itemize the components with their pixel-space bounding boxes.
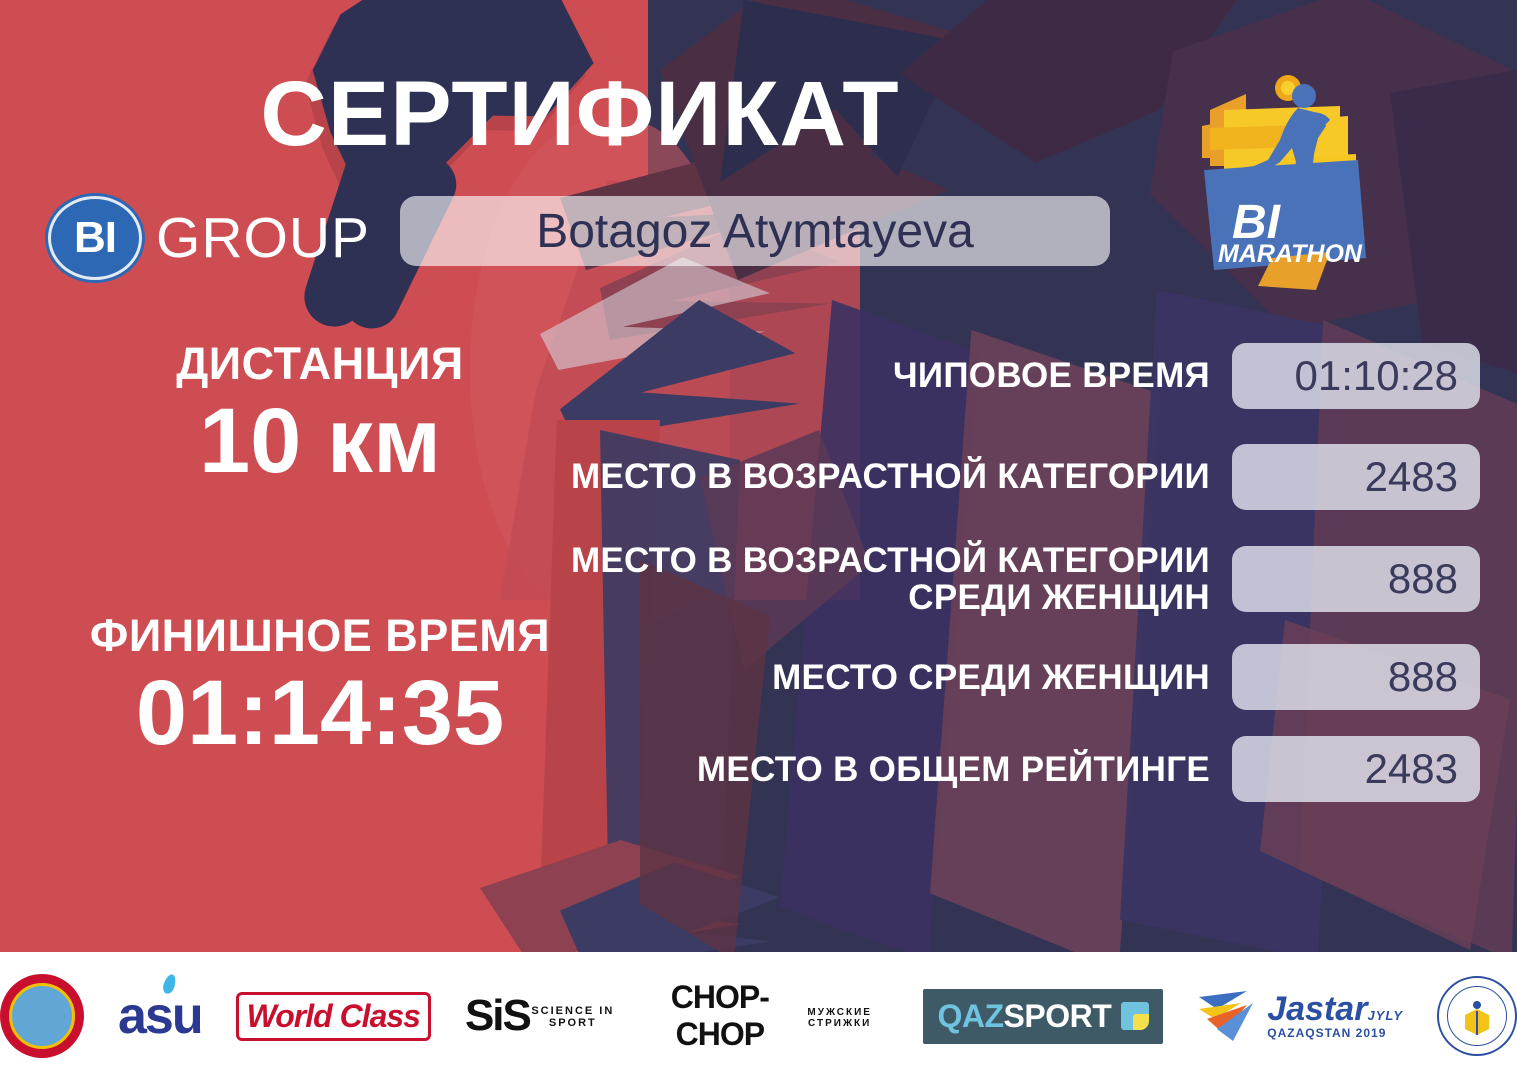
- bi-logo-icon: BI: [48, 196, 142, 280]
- overall-place-label: МЕСТО В ОБЩЕМ РЕЙТИНГЕ: [520, 751, 1232, 788]
- qazsport-mark-icon: [1121, 1002, 1149, 1030]
- overall-place-value: 2483: [1232, 736, 1480, 802]
- stat-row-age-category-women-place: МЕСТО В ВОЗРАСТНОЙ КАТЕГОРИИ СРЕДИ ЖЕНЩИ…: [520, 542, 1480, 616]
- finish-time-value: 01:14:35: [40, 665, 600, 762]
- sponsor-asu: asu: [118, 986, 202, 1046]
- jastar-jyly-text: JYLY: [1367, 1008, 1403, 1023]
- ministry-seal-icon: [1437, 976, 1517, 1056]
- women-place-label: МЕСТО СРЕДИ ЖЕНЩИН: [520, 659, 1232, 696]
- world-class-wordmark: World Class: [236, 992, 431, 1041]
- left-stats-column: ДИСТАНЦИЯ 10 км ФИНИШНОЕ ВРЕМЯ 01:14:35: [40, 340, 600, 762]
- sis-tagline: SCIENCE IN SPORT: [530, 1005, 616, 1029]
- chop-chop-wordmark: CHOP-CHOP: [650, 979, 790, 1053]
- jastar-text: Jastar: [1267, 990, 1367, 1028]
- sponsor-sis: SiS SCIENCE IN SPORT: [465, 995, 616, 1037]
- distance-label: ДИСТАНЦИЯ: [40, 340, 600, 387]
- age-category-place-value: 2483: [1232, 444, 1480, 510]
- asu-text: asu: [118, 987, 202, 1045]
- stat-row-women-place: МЕСТО СРЕДИ ЖЕНЩИН 888: [520, 644, 1480, 710]
- bi-marathon-sub-text: MARATHON: [1218, 240, 1363, 268]
- participant-name-field: Botagoz Atymtayeva: [400, 196, 1110, 266]
- nur-sultan-icon: [0, 974, 84, 1058]
- sponsor-jastar-jyly: JastarJYLY QAZAQSTAN 2019: [1197, 985, 1403, 1047]
- age-category-place-label: МЕСТО В ВОЗРАСТНОЙ КАТЕГОРИИ: [520, 458, 1232, 495]
- stat-row-age-category-place: МЕСТО В ВОЗРАСТНОЙ КАТЕГОРИИ 2483: [520, 444, 1480, 510]
- bi-marathon-logo: BI MARATHON: [1180, 62, 1390, 302]
- chop-chop-tagline: МУЖСКИЕ СТРИЖКИ: [790, 1007, 890, 1029]
- ministry-seal-inner-icon: [1447, 986, 1507, 1046]
- nur-sultan-inner-icon: [9, 983, 75, 1049]
- chip-time-label: ЧИПОВОЕ ВРЕМЯ: [520, 357, 1232, 394]
- sis-wordmark: SiS: [465, 995, 530, 1037]
- sponsor-chop-chop: CHOP-CHOP МУЖСКИЕ СТРИЖКИ: [650, 979, 890, 1053]
- chip-time-value: 01:10:28: [1232, 343, 1480, 409]
- asu-wordmark: asu: [118, 986, 202, 1046]
- sponsor-ministry-seal: [1437, 976, 1517, 1056]
- age-category-women-place-label: МЕСТО В ВОЗРАСТНОЙ КАТЕГОРИИ СРЕДИ ЖЕНЩИ…: [520, 542, 1232, 616]
- women-place-value: 888: [1232, 644, 1480, 710]
- left-stat-finish-time: ФИНИШНОЕ ВРЕМЯ 01:14:35: [40, 612, 600, 762]
- distance-value: 10 км: [40, 393, 600, 490]
- qazsport-text: QAZSPORT: [937, 998, 1111, 1035]
- sponsor-qazsport: QAZSPORT: [923, 989, 1163, 1044]
- sponsor-world-class: World Class: [236, 992, 431, 1041]
- left-stat-distance: ДИСТАНЦИЯ 10 км: [40, 340, 600, 490]
- age-category-women-place-value: 888: [1232, 546, 1480, 612]
- finish-time-label: ФИНИШНОЕ ВРЕМЯ: [40, 612, 600, 659]
- jastar-bird-icon: [1197, 985, 1261, 1047]
- bi-marathon-logo-icon: BI MARATHON: [1180, 62, 1390, 302]
- qazsport-text-sport: SPORT: [1004, 998, 1112, 1034]
- page-title: СЕРТИФИКАТ: [0, 68, 1160, 160]
- sponsor-nur-sultan-emblem: [0, 974, 84, 1058]
- bi-group-wordmark: GROUP: [156, 205, 370, 271]
- right-stats-column: ЧИПОВОЕ ВРЕМЯ 01:10:28 МЕСТО В ВОЗРАСТНО…: [520, 343, 1480, 824]
- qazsport-text-qaz: QAZ: [937, 998, 1003, 1034]
- stat-row-overall-place: МЕСТО В ОБЩЕМ РЕЙТИНГЕ 2483: [520, 736, 1480, 802]
- bi-group-logo: BI GROUP: [48, 196, 370, 280]
- participant-name-value: Botagoz Atymtayeva: [536, 204, 974, 259]
- sponsor-bar: asu World Class SiS SCIENCE IN SPORT CHO…: [0, 952, 1517, 1080]
- qazsport-wordmark: QAZSPORT: [923, 989, 1163, 1044]
- stat-row-chip-time: ЧИПОВОЕ ВРЕМЯ 01:10:28: [520, 343, 1480, 409]
- jastar-wordmark: JastarJYLY: [1267, 992, 1403, 1026]
- ministry-emblem-icon: [1456, 995, 1498, 1037]
- certificate-canvas: СЕРТИФИКАТ BI GROUP Botagoz Atymtayeva: [0, 0, 1517, 1080]
- jastar-tagline: QAZAQSTAN 2019: [1267, 1026, 1403, 1040]
